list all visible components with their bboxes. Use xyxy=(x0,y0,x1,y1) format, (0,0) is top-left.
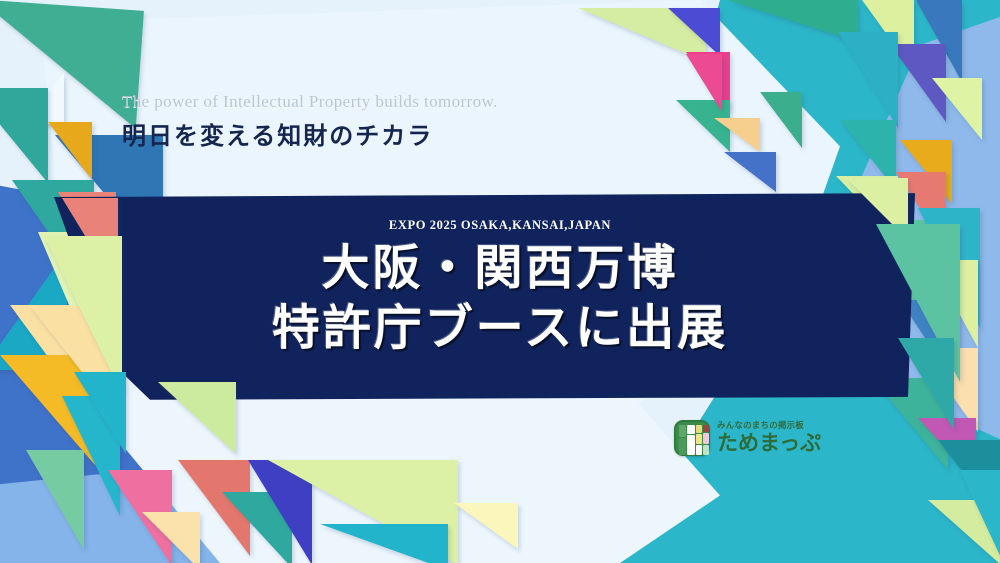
tagline-japanese: 明日を変える知財のチカラ xyxy=(122,116,498,151)
logo-icon-tile-2 xyxy=(687,425,695,434)
triangle-orange-left-top xyxy=(48,122,92,180)
triangle-mint-left-bottom xyxy=(26,450,84,550)
headline-line-1: 大阪・関西万博 xyxy=(0,238,1000,298)
logo-icon-tile-6 xyxy=(687,435,695,455)
tamemap-app-icon xyxy=(674,420,710,456)
logo-icon-tile-10 xyxy=(703,445,709,455)
tagline-block: The power of Intellectual Property build… xyxy=(122,92,498,151)
logo-wordmark: ためまっぷ xyxy=(717,433,821,454)
logo-icon-tile-1 xyxy=(679,425,686,437)
logo-icon-tile-8 xyxy=(703,433,709,444)
headline-line-2: 特許庁ブースに出展 xyxy=(0,298,1000,358)
triangle-cyan-right-upper xyxy=(838,32,898,128)
triangle-lime-over-banner-left xyxy=(44,236,122,394)
triangle-lime-over-banner-bottomleft xyxy=(158,382,236,454)
triangle-lime-right-top2 xyxy=(932,78,982,140)
logo-tagline: みんなのまちの掲示板 xyxy=(717,422,821,431)
triangle-cyan-bottom-center xyxy=(320,524,448,563)
triangle-magenta-right xyxy=(686,54,722,112)
triangle-green-center-right xyxy=(760,92,802,148)
logo-icon-tile-9 xyxy=(696,445,702,455)
triangle-teal-small-left xyxy=(0,88,48,183)
logo-icon-tile-4 xyxy=(703,425,709,432)
triangle-cyan-over-banner-bottomleft xyxy=(74,372,126,454)
tamemap-logo-text: みんなのまちの掲示板 ためまっぷ xyxy=(717,422,821,455)
triangle-cream-bottomleft xyxy=(142,512,200,563)
triangle-violet-center-top xyxy=(668,8,720,56)
banner-graphic: The power of Intellectual Property build… xyxy=(0,0,1000,563)
headline-block: 大阪・関西万博 特許庁ブースに出展 xyxy=(0,238,1000,358)
logo-icon-tile-3 xyxy=(696,425,702,433)
tagline-english: The power of Intellectual Property build… xyxy=(122,92,498,112)
triangle-cyan-right-edge xyxy=(960,470,1000,563)
tamemap-logo[interactable]: みんなのまちの掲示板 ためまっぷ xyxy=(674,420,821,456)
triangle-pale-yellow-bottom xyxy=(454,503,518,549)
triangle-blue-center xyxy=(724,152,776,192)
logo-icon-tile-5 xyxy=(679,438,686,455)
triangle-cyan-over-banner-bottomright xyxy=(898,338,954,430)
triangle-tan-center xyxy=(714,118,760,152)
logo-icon-tile-7 xyxy=(696,434,702,444)
